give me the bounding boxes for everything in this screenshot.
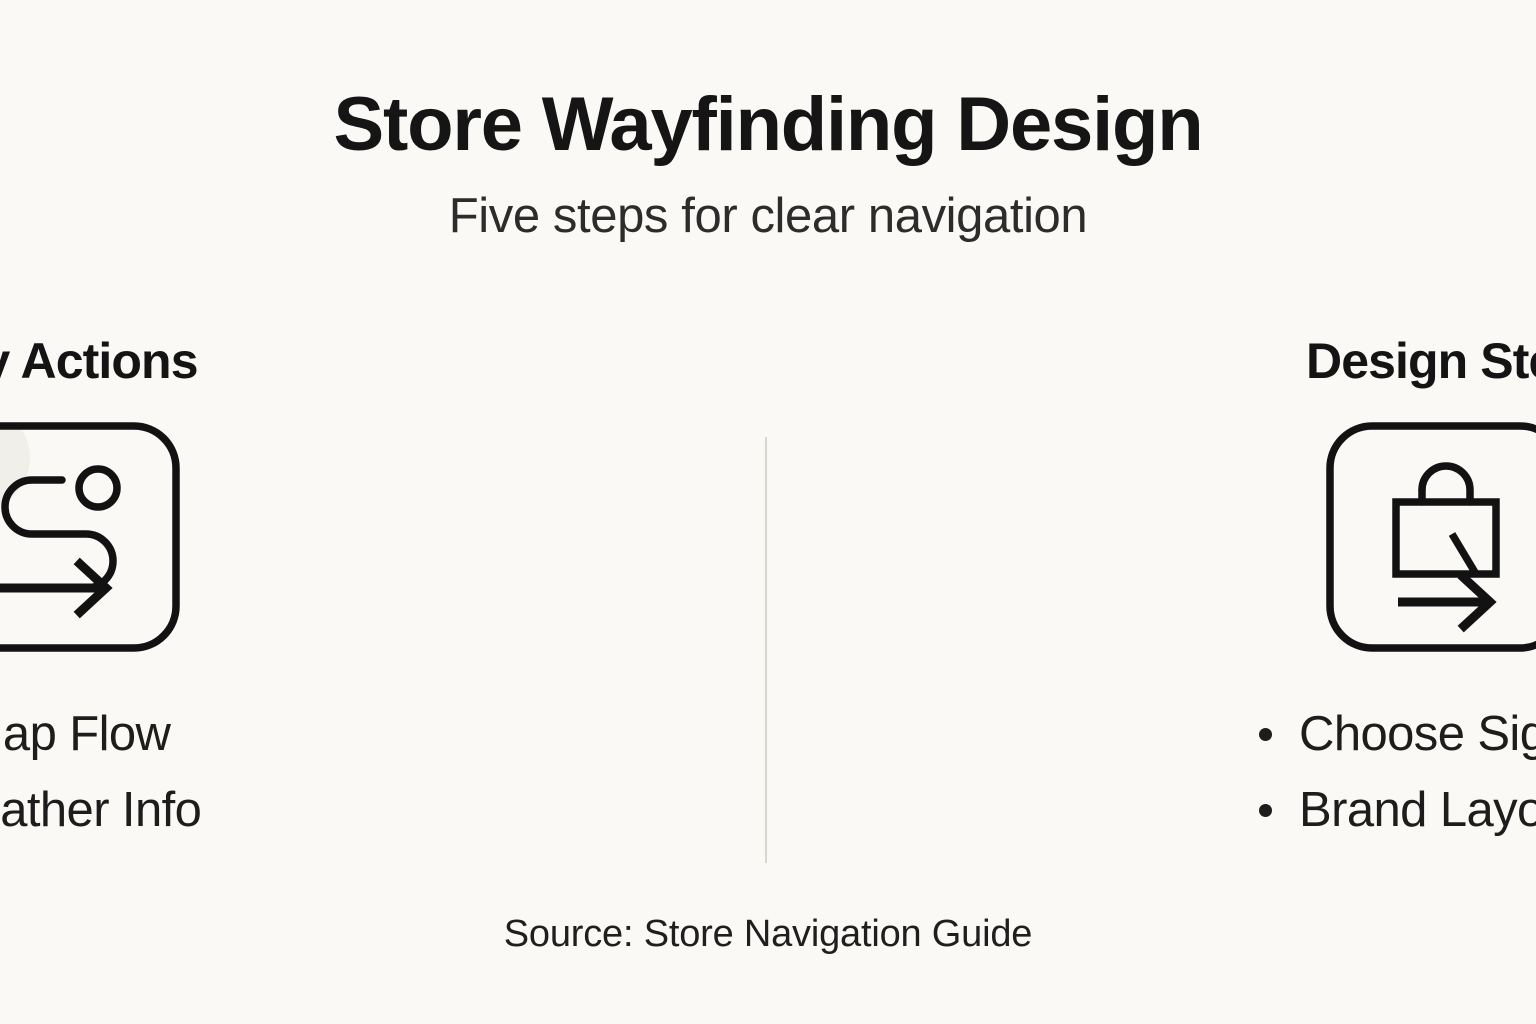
page-subtitle: Five steps for clear navigation bbox=[0, 190, 1536, 244]
header: Store Wayfinding Design Five steps for c… bbox=[0, 86, 1536, 243]
column-key-actions: Key Actions bbox=[0, 336, 768, 876]
bullet-list-design-steps: Choose Signs Brand Layout bbox=[1259, 696, 1536, 848]
list-item: Choose Signs bbox=[1259, 696, 1536, 772]
list-item: Gather Info bbox=[0, 772, 201, 848]
wayfinding-infographic: Store Wayfinding Design Five steps for c… bbox=[0, 0, 1536, 1024]
columns-container: Key Actions bbox=[0, 336, 1536, 876]
list-item-label: Choose Signs bbox=[1299, 710, 1536, 759]
list-item: Map Flow bbox=[0, 696, 201, 772]
list-item-label: Gather Info bbox=[0, 786, 201, 835]
list-item-label: Brand Layout bbox=[1299, 786, 1536, 835]
footer: Source: Store Navigation Guide bbox=[0, 913, 1536, 956]
source-caption: Source: Store Navigation Guide bbox=[0, 913, 1536, 956]
winding-route-arrow-icon bbox=[0, 422, 180, 652]
bullet-list-key-actions: Map Flow Gather Info bbox=[0, 696, 201, 848]
list-item-label: Map Flow bbox=[0, 710, 170, 759]
column-heading-key-actions: Key Actions bbox=[0, 336, 198, 386]
page-title: Store Wayfinding Design bbox=[0, 86, 1536, 164]
shopping-bag-arrow-icon bbox=[1326, 422, 1536, 652]
bullet-dot-icon bbox=[1259, 728, 1272, 741]
list-item: Brand Layout bbox=[1259, 772, 1536, 848]
column-design-steps: Design Steps Choose Signs bbox=[768, 336, 1536, 876]
bullet-dot-icon bbox=[1259, 804, 1272, 817]
column-heading-design-steps: Design Steps bbox=[1306, 336, 1536, 386]
